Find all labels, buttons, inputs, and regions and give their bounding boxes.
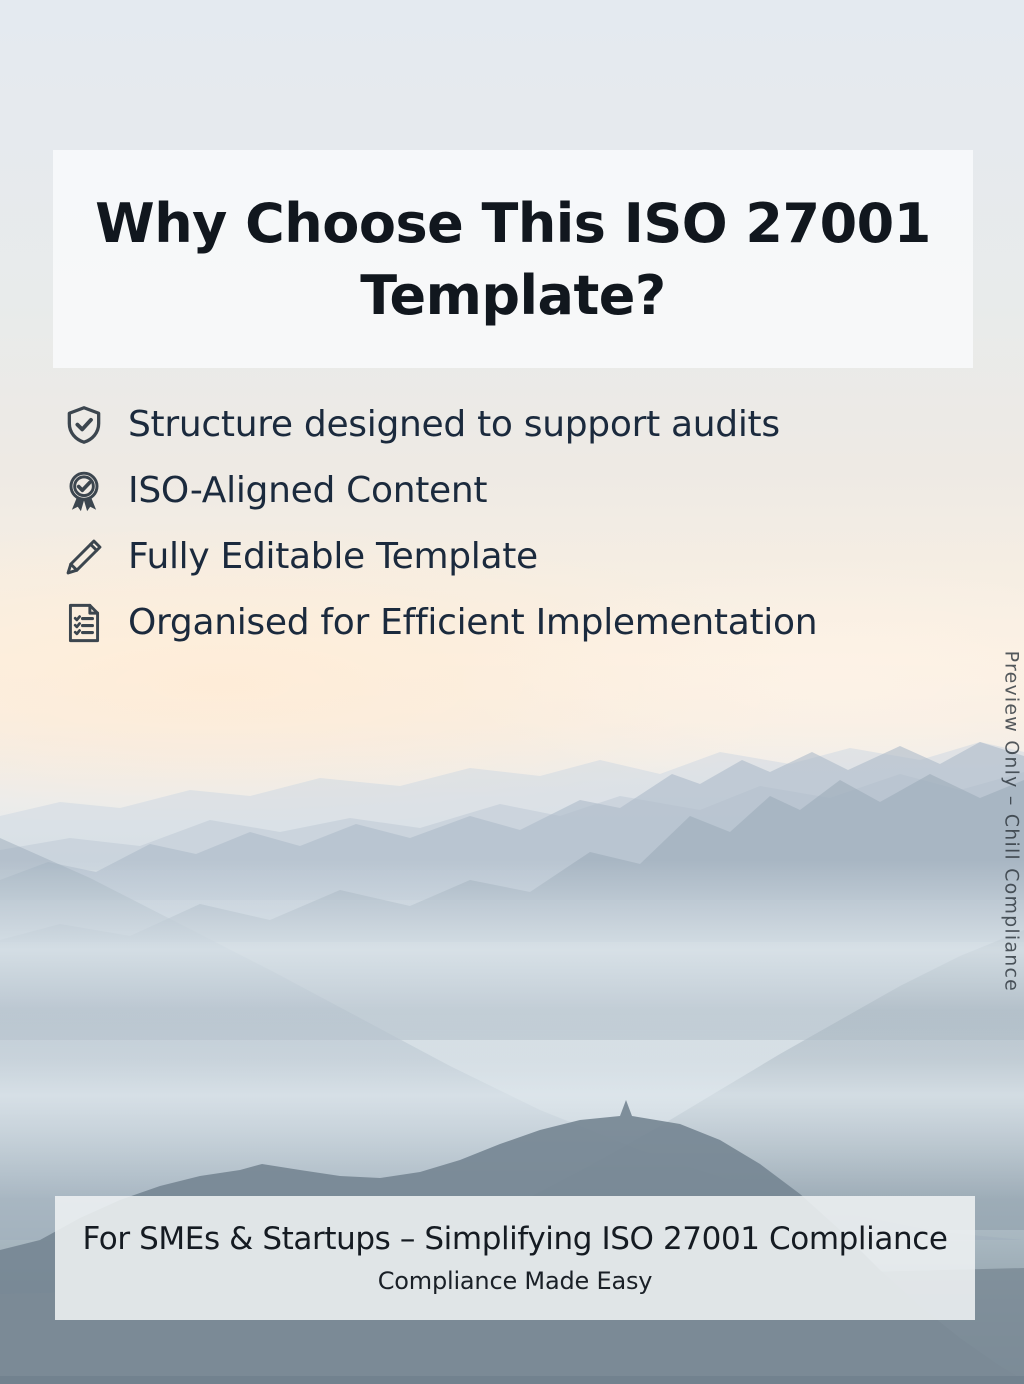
preview-watermark: Preview Only – Chill Compliance bbox=[1000, 651, 1022, 992]
checklist-document-icon bbox=[60, 599, 108, 647]
benefit-label: Organised for Efficient Implementation bbox=[128, 605, 817, 641]
benefit-label: Fully Editable Template bbox=[128, 539, 538, 575]
benefit-item: Fully Editable Template bbox=[60, 524, 980, 590]
footer-tagline: Compliance Made Easy bbox=[378, 1267, 653, 1295]
benefit-label: Structure designed to support audits bbox=[128, 407, 780, 443]
footer-headline: For SMEs & Startups – Simplifying ISO 27… bbox=[82, 1221, 947, 1257]
shield-check-icon bbox=[60, 401, 108, 449]
footer-panel: For SMEs & Startups – Simplifying ISO 27… bbox=[55, 1196, 975, 1320]
pencil-icon bbox=[60, 533, 108, 581]
title-panel: Why Choose This ISO 27001 Template? bbox=[53, 150, 973, 368]
benefit-item: ISO-Aligned Content bbox=[60, 458, 980, 524]
page-title: Why Choose This ISO 27001 Template? bbox=[53, 150, 973, 332]
benefits-list: Structure designed to support audits ISO… bbox=[60, 392, 980, 656]
benefit-item: Organised for Efficient Implementation bbox=[60, 590, 980, 656]
award-badge-icon bbox=[60, 467, 108, 515]
benefit-item: Structure designed to support audits bbox=[60, 392, 980, 458]
benefit-label: ISO-Aligned Content bbox=[128, 473, 487, 509]
